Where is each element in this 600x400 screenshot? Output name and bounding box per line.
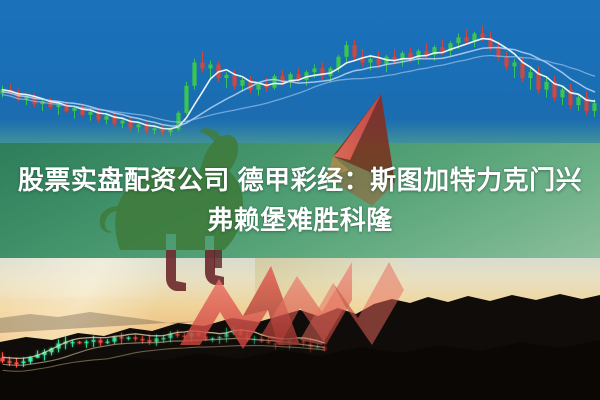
bullish-candle-body — [208, 64, 212, 68]
bullish-candle-body — [416, 51, 420, 59]
glow-bullish-candle-body — [281, 343, 285, 345]
glow-bullish-candle-body — [106, 342, 110, 344]
bearish-candle-body — [480, 34, 484, 38]
bullish-candle-body — [240, 80, 244, 86]
glow-bearish-candle-body — [295, 340, 299, 342]
bullish-candle-body — [104, 116, 108, 120]
bullish-candle-body — [560, 90, 564, 98]
sunset-landscape-band — [0, 258, 600, 400]
glow-bearish-candle-body — [141, 339, 145, 341]
glow-bearish-candle-body — [1, 358, 5, 361]
glow-bullish-candle-body — [85, 342, 89, 344]
bullish-candle-body — [72, 108, 76, 111]
glow-bullish-candle-body — [92, 340, 96, 342]
glow-bullish-candle-body — [22, 362, 26, 364]
bearish-candle-body — [504, 57, 508, 67]
bullish-candle-body — [544, 82, 548, 90]
glow-bearish-candle-body — [183, 336, 187, 338]
glow-bearish-candle-body — [15, 363, 19, 365]
bullish-candle-body — [56, 105, 60, 107]
glow-bullish-candle-body — [218, 337, 222, 339]
bearish-candle-body — [520, 63, 524, 78]
bearish-candle-body — [424, 51, 428, 55]
glow-bullish-candle-body — [190, 333, 194, 337]
glow-bearish-candle-body — [78, 342, 82, 344]
glow-bearish-candle-body — [176, 334, 180, 336]
glow-bullish-candle-body — [155, 338, 159, 341]
glow-bearish-candle-body — [8, 361, 12, 363]
glow-bearish-candle-body — [302, 341, 306, 344]
glow-bearish-candle-body — [267, 341, 271, 343]
glow-bearish-candle-body — [99, 340, 103, 343]
bullish-candle-body — [456, 37, 460, 43]
blue-sky-candlestick-band — [0, 0, 600, 145]
glow-bullish-candle-body — [162, 338, 166, 340]
glow-bearish-candle-body — [204, 336, 208, 339]
bearish-candle-body — [200, 63, 204, 69]
glow-bearish-candle-body — [134, 337, 138, 339]
glow-bearish-candle-body — [239, 330, 243, 335]
headline-line-2: 弗赖堡难胜科隆 — [0, 200, 600, 240]
bearish-candle-body — [440, 47, 444, 51]
bullish-candle-body — [88, 112, 92, 115]
banner-image: 股票实盘配资公司 德甲彩经：斯图加特力克门兴 弗赖堡难胜科隆 — [0, 0, 600, 400]
glow-bearish-candle-body — [274, 343, 278, 345]
bullish-candle-body — [528, 72, 532, 78]
glow-bullish-candle-body — [127, 337, 131, 339]
glow-bullish-candle-body — [29, 358, 33, 362]
bullish-candle-body — [368, 59, 372, 63]
glow-bullish-candle-body — [71, 342, 75, 344]
glow-bullish-candle-body — [113, 337, 117, 342]
bullish-candle-body — [224, 75, 228, 78]
bullish-candle-body — [256, 84, 260, 90]
bullish-candle-body — [344, 45, 348, 57]
bullish-candle-body — [192, 63, 196, 86]
bullish-candle-body — [576, 97, 580, 105]
bearish-candle-body — [352, 45, 356, 57]
bullish-candle-body — [512, 63, 516, 67]
headline: 股票实盘配资公司 德甲彩经：斯图加特力克门兴 弗赖堡难胜科隆 — [0, 160, 600, 240]
bearish-candle-body — [496, 47, 500, 57]
glow-bullish-candle-body — [225, 333, 229, 337]
bearish-candle-body — [376, 59, 380, 65]
glow-bearish-candle-body — [120, 337, 124, 339]
glow-bearish-candle-body — [197, 333, 201, 336]
horizon-haze — [0, 123, 600, 145]
bullish-candle-body — [312, 68, 316, 72]
bearish-candle-body — [232, 75, 236, 86]
headline-line-1: 股票实盘配资公司 德甲彩经：斯图加特力克门兴 — [0, 160, 600, 200]
bottom-candlestick-chart — [0, 258, 600, 400]
bearish-candle-body — [464, 37, 468, 41]
bullish-candle-body — [592, 103, 596, 111]
bullish-candle-body — [272, 76, 276, 88]
glow-bearish-candle-body — [148, 340, 152, 342]
bullish-candle-body — [184, 86, 188, 113]
